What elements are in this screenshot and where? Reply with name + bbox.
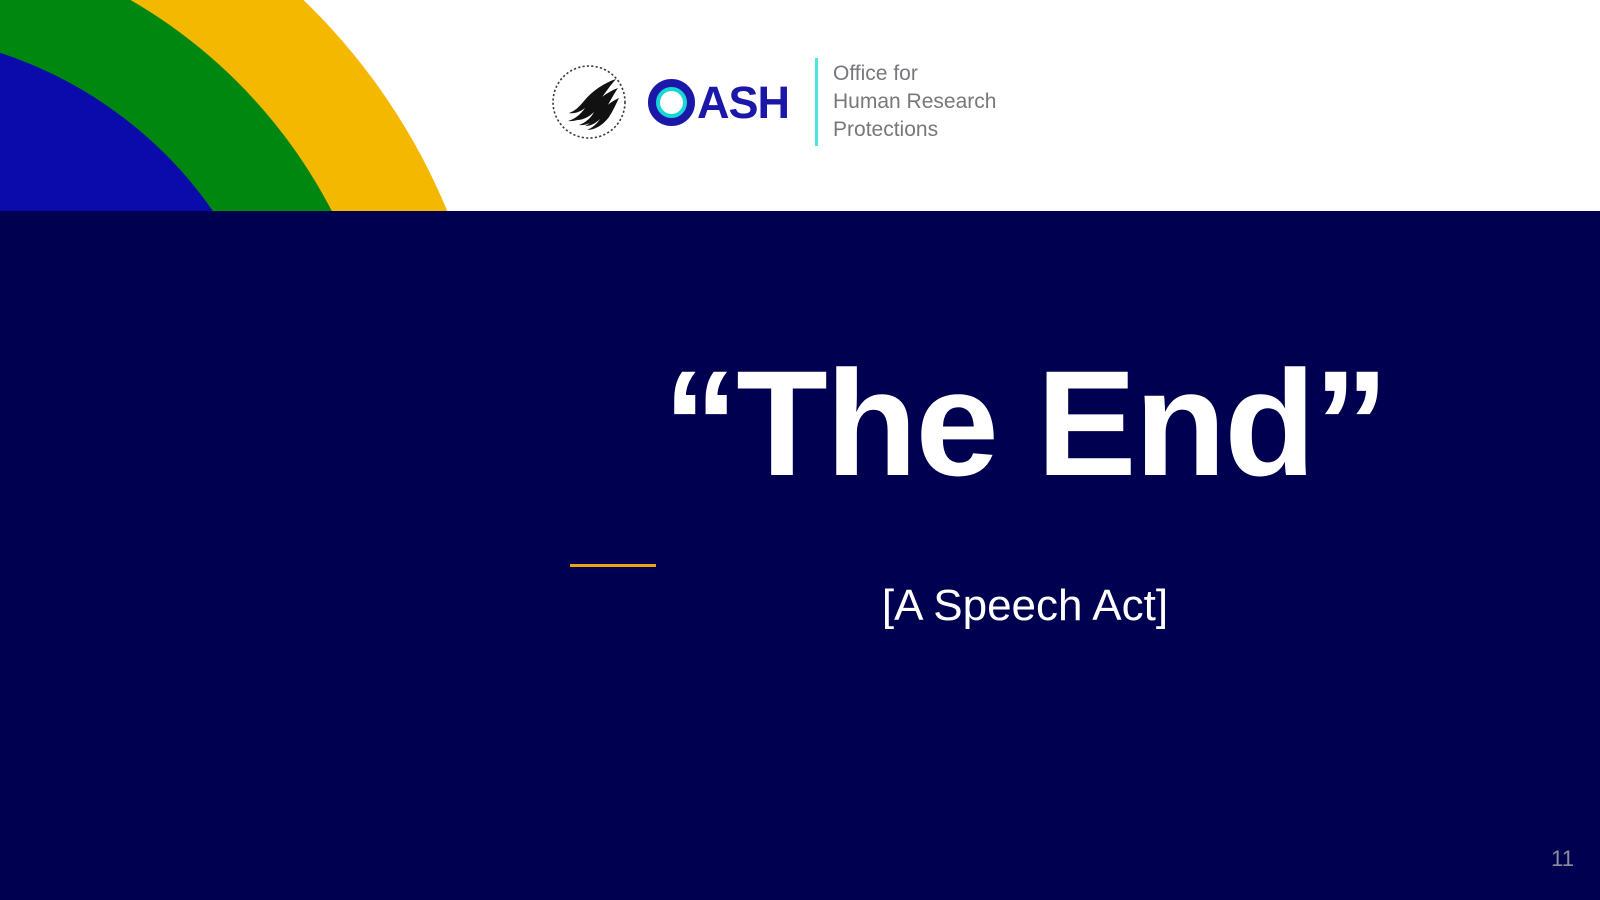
tagline-line-1: Office for [833, 60, 996, 88]
oash-wordmark: ASH [648, 79, 789, 126]
tagline-line-3: Protections [833, 116, 996, 144]
oash-logo-lockup: ASH Office for Human Research Protection… [548, 58, 996, 146]
slide-subtitle: [A Speech Act] [470, 580, 1580, 633]
hhs-seal-icon [548, 61, 630, 143]
accent-rule [570, 564, 656, 567]
oash-wordmark-text: ASH [697, 80, 789, 125]
page-number: 11 [1551, 846, 1574, 872]
oash-tagline: Office for Human Research Protections [833, 60, 996, 144]
tagline-line-2: Human Research [833, 88, 996, 116]
logo-divider [815, 58, 818, 146]
slide-title: “The End” [470, 345, 1580, 503]
oash-o-ring-icon [648, 79, 695, 126]
slide: ASH Office for Human Research Protection… [0, 0, 1600, 900]
content-panel [0, 211, 1600, 900]
